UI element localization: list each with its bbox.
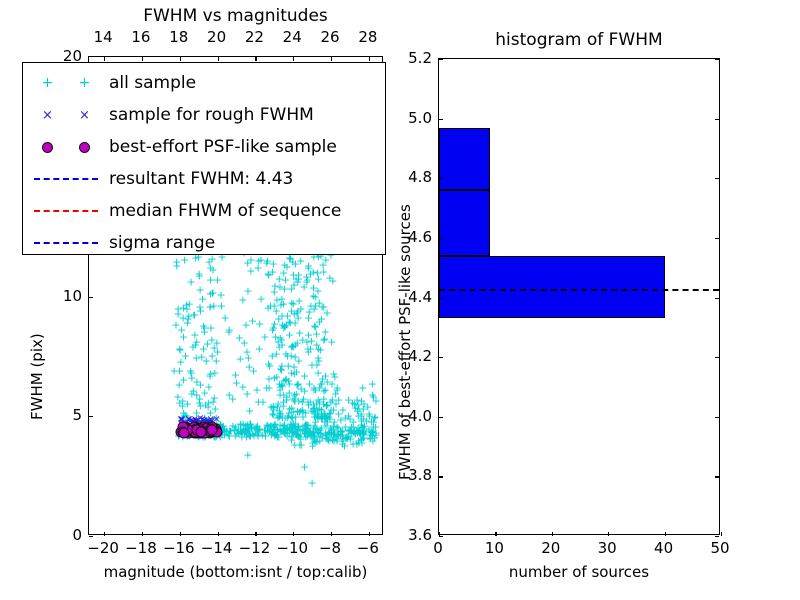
scatter-marker-all-sample: + [311, 321, 320, 332]
scatter-marker-all-sample: + [226, 425, 235, 436]
scatter-marker-all-sample: + [359, 404, 368, 415]
scatter-y-tick: 0 [44, 526, 82, 544]
scatter-marker-psf-like [194, 426, 205, 437]
scatter-marker-psf-like [203, 426, 214, 437]
scatter-marker-all-sample: + [324, 435, 333, 446]
scatter-y-tick: 5 [44, 406, 82, 424]
scatter-marker-all-sample: + [275, 341, 284, 352]
scatter-marker-all-sample: + [294, 422, 303, 433]
scatter-marker-all-sample: + [269, 422, 278, 433]
scatter-marker-all-sample: + [176, 356, 185, 367]
scatter-marker-all-sample: + [175, 427, 184, 438]
scatter-marker-all-sample: + [187, 388, 196, 399]
legend-dot-icon [42, 142, 53, 153]
scatter-marker-all-sample: + [342, 432, 351, 443]
scatter-marker-all-sample: + [184, 421, 193, 432]
scatter-marker-all-sample: + [243, 427, 252, 438]
scatter-marker-all-sample: + [193, 419, 202, 430]
scatter-marker-all-sample: + [368, 436, 377, 447]
scatter-marker-all-sample: + [232, 377, 241, 388]
scatter-marker-all-sample: + [329, 404, 338, 415]
scatter-marker-all-sample: + [330, 417, 339, 428]
scatter-marker-all-sample: + [369, 392, 378, 403]
scatter-marker-psf-like [201, 423, 212, 434]
scatter-marker-all-sample: + [210, 431, 219, 442]
scatter-marker-all-sample: + [281, 274, 290, 285]
scatter-marker-all-sample: + [243, 419, 252, 430]
scatter-marker-all-sample: + [331, 399, 340, 410]
scatter-marker-all-sample: + [302, 276, 311, 287]
scatter-marker-all-sample: + [354, 411, 363, 422]
scatter-marker-all-sample: + [203, 429, 212, 440]
scatter-marker-all-sample: + [291, 259, 300, 270]
scatter-marker-all-sample: + [303, 274, 312, 285]
scatter-marker-all-sample: + [285, 379, 294, 390]
scatter-marker-all-sample: + [302, 424, 311, 435]
scatter-top-tick: 16 [131, 28, 150, 46]
legend-label: resultant FWHM: 4.43 [109, 169, 293, 189]
scatter-marker-all-sample: + [297, 439, 306, 450]
scatter-marker-all-sample: + [228, 394, 237, 405]
scatter-marker-all-sample: + [300, 461, 309, 472]
scatter-marker-psf-like [179, 426, 190, 437]
scatter-marker-all-sample: + [199, 321, 208, 332]
legend-cross-icon: × [42, 108, 53, 123]
scatter-marker-all-sample: + [226, 426, 235, 437]
tick-mark [89, 536, 93, 537]
scatter-marker-all-sample: + [336, 425, 345, 436]
scatter-marker-all-sample: + [286, 419, 295, 430]
scatter-marker-all-sample: + [325, 413, 334, 424]
scatter-marker-psf-like [179, 422, 190, 433]
scatter-marker-all-sample: + [349, 427, 358, 438]
scatter-marker-all-sample: + [321, 413, 330, 424]
scatter-marker-all-sample: + [309, 385, 318, 396]
scatter-marker-all-sample: + [333, 382, 342, 393]
scatter-marker-all-sample: + [368, 390, 377, 401]
scatter-marker-all-sample: + [270, 424, 279, 435]
legend-entry[interactable]: sigma range [23, 227, 385, 259]
scatter-marker-all-sample: + [214, 423, 223, 434]
scatter-marker-all-sample: + [296, 434, 305, 445]
scatter-marker-all-sample: + [284, 423, 293, 434]
scatter-marker-all-sample: + [216, 289, 225, 300]
legend-entry[interactable]: resultant FWHM: 4.43 [23, 163, 385, 195]
scatter-marker-all-sample: + [317, 378, 326, 389]
scatter-marker-all-sample: + [302, 426, 311, 437]
scatter-marker-psf-like [196, 427, 207, 438]
scatter-marker-all-sample: + [358, 427, 367, 438]
scatter-marker-all-sample: + [368, 427, 377, 438]
scatter-marker-all-sample: + [283, 310, 292, 321]
scatter-marker-all-sample: + [276, 363, 285, 374]
scatter-marker-all-sample: + [235, 332, 244, 343]
scatter-marker-all-sample: + [210, 342, 219, 353]
scatter-marker-all-sample: + [347, 421, 356, 432]
tick-mark [439, 119, 443, 120]
scatter-marker-all-sample: + [321, 432, 330, 443]
scatter-marker-rough-fwhm: × [207, 415, 215, 425]
scatter-marker-all-sample: + [293, 380, 302, 391]
scatter-marker-all-sample: + [317, 314, 326, 325]
scatter-marker-all-sample: + [234, 424, 243, 435]
scatter-marker-all-sample: + [350, 427, 359, 438]
scatter-marker-all-sample: + [308, 441, 317, 452]
scatter-top-tick: 18 [169, 28, 188, 46]
scatter-marker-all-sample: + [293, 424, 302, 435]
scatter-marker-psf-like [175, 427, 186, 438]
scatter-marker-all-sample: + [305, 306, 314, 317]
scatter-marker-all-sample: + [195, 431, 204, 442]
scatter-marker-all-sample: + [301, 428, 310, 439]
scatter-marker-all-sample: + [240, 427, 249, 438]
scatter-marker-all-sample: + [205, 302, 214, 313]
scatter-marker-all-sample: + [291, 340, 300, 351]
scatter-marker-all-sample: + [306, 396, 315, 407]
scatter-marker-all-sample: + [190, 310, 199, 321]
scatter-marker-psf-like [197, 424, 208, 435]
scatter-marker-all-sample: + [241, 426, 250, 437]
scatter-marker-all-sample: + [306, 426, 315, 437]
scatter-marker-all-sample: + [212, 430, 221, 441]
scatter-marker-all-sample: + [287, 297, 296, 308]
scatter-marker-psf-like [189, 421, 200, 432]
scatter-marker-all-sample: + [279, 322, 288, 333]
scatter-marker-all-sample: + [209, 430, 218, 441]
scatter-marker-all-sample: + [236, 419, 245, 430]
scatter-marker-all-sample: + [253, 430, 262, 441]
scatter-marker-all-sample: + [358, 426, 367, 437]
scatter-marker-all-sample: + [205, 370, 214, 381]
scatter-bottom-tick: −10 [276, 539, 308, 557]
scatter-marker-rough-fwhm: × [200, 416, 208, 426]
scatter-marker-all-sample: + [316, 378, 325, 389]
legend-key [23, 242, 109, 244]
scatter-marker-all-sample: + [338, 425, 347, 436]
scatter-marker-all-sample: + [314, 367, 323, 378]
scatter-ylabel: FWHM (pix) [28, 333, 46, 420]
scatter-marker-all-sample: + [225, 390, 234, 401]
scatter-marker-all-sample: + [279, 401, 288, 412]
scatter-marker-all-sample: + [289, 407, 298, 418]
scatter-marker-all-sample: + [206, 427, 215, 438]
scatter-marker-all-sample: + [179, 408, 188, 419]
scatter-marker-all-sample: + [290, 351, 299, 362]
scatter-marker-all-sample: + [198, 293, 207, 304]
scatter-marker-all-sample: + [251, 428, 260, 439]
scatter-marker-rough-fwhm: × [196, 418, 204, 428]
scatter-marker-psf-like [178, 427, 189, 438]
scatter-marker-all-sample: + [280, 419, 289, 430]
tick-mark [439, 178, 443, 179]
scatter-marker-all-sample: + [252, 422, 261, 433]
scatter-marker-all-sample: + [196, 380, 205, 391]
scatter-marker-all-sample: + [180, 428, 189, 439]
scatter-marker-all-sample: + [281, 375, 290, 386]
scatter-marker-all-sample: + [187, 372, 196, 383]
legend-label: best-effort PSF-like sample [109, 137, 337, 157]
tick-mark [715, 298, 719, 299]
scatter-marker-rough-fwhm: × [204, 418, 212, 428]
scatter-marker-all-sample: + [262, 419, 271, 430]
scatter-marker-rough-fwhm: × [193, 417, 201, 427]
scatter-marker-all-sample: + [325, 427, 334, 438]
scatter-marker-all-sample: + [302, 337, 311, 348]
scatter-marker-all-sample: + [275, 411, 284, 422]
scatter-marker-psf-like [191, 424, 202, 435]
scatter-marker-all-sample: + [267, 429, 276, 440]
scatter-marker-all-sample: + [231, 421, 240, 432]
scatter-marker-all-sample: + [191, 425, 200, 436]
scatter-marker-all-sample: + [275, 406, 284, 417]
scatter-marker-all-sample: + [289, 428, 298, 439]
scatter-marker-all-sample: + [343, 432, 352, 443]
scatter-marker-all-sample: + [236, 353, 245, 364]
scatter-marker-all-sample: + [213, 420, 222, 431]
scatter-marker-all-sample: + [268, 350, 277, 361]
scatter-marker-all-sample: + [278, 380, 287, 391]
scatter-marker-all-sample: + [294, 420, 303, 431]
scatter-marker-all-sample: + [282, 392, 291, 403]
scatter-marker-psf-like [205, 424, 216, 435]
scatter-marker-psf-like [198, 422, 209, 433]
scatter-marker-all-sample: + [355, 427, 364, 438]
scatter-marker-all-sample: + [329, 430, 338, 441]
scatter-marker-all-sample: + [189, 309, 198, 320]
scatter-marker-all-sample: + [260, 424, 269, 435]
scatter-marker-rough-fwhm: × [184, 415, 192, 425]
scatter-marker-all-sample: + [366, 427, 375, 438]
scatter-marker-all-sample: + [240, 338, 249, 349]
histogram-bars-layer [439, 59, 719, 534]
scatter-marker-psf-like [182, 422, 193, 433]
scatter-marker-psf-like [183, 426, 194, 437]
scatter-marker-all-sample: + [348, 397, 357, 408]
scatter-marker-all-sample: + [228, 420, 237, 431]
scatter-marker-all-sample: + [234, 428, 243, 439]
scatter-marker-all-sample: + [260, 332, 269, 343]
scatter-marker-all-sample: + [204, 398, 213, 409]
legend-entry[interactable]: ××sample for rough FWHM [23, 99, 385, 131]
scatter-marker-all-sample: + [241, 422, 250, 433]
scatter-marker-all-sample: + [368, 431, 377, 442]
scatter-marker-all-sample: + [273, 337, 282, 348]
scatter-marker-all-sample: + [352, 439, 361, 450]
scatter-marker-psf-like [177, 425, 188, 436]
legend-key: ++ [23, 75, 109, 91]
scatter-marker-all-sample: + [300, 428, 309, 439]
legend-key [23, 210, 109, 212]
scatter-marker-all-sample: + [274, 431, 283, 442]
scatter-marker-rough-fwhm: × [203, 416, 211, 426]
scatter-marker-all-sample: + [195, 394, 204, 405]
scatter-marker-all-sample: + [222, 425, 231, 436]
scatter-marker-all-sample: + [185, 428, 194, 439]
histogram-x-tick: 40 [654, 539, 673, 557]
scatter-marker-psf-like [191, 424, 202, 435]
scatter-marker-all-sample: + [206, 425, 215, 436]
legend-entry[interactable]: best-effort PSF-like sample [23, 131, 385, 163]
scatter-marker-psf-like [188, 422, 199, 433]
scatter-marker-all-sample: + [361, 425, 370, 436]
scatter-marker-all-sample: + [367, 425, 376, 436]
scatter-marker-psf-like [201, 426, 212, 437]
scatter-marker-all-sample: + [272, 371, 281, 382]
scatter-marker-psf-like [205, 424, 216, 435]
scatter-y-tick: 10 [44, 287, 82, 305]
scatter-marker-all-sample: + [169, 365, 178, 376]
scatter-marker-all-sample: + [350, 425, 359, 436]
tick-mark [218, 57, 219, 61]
tick-mark [180, 57, 181, 61]
scatter-marker-all-sample: + [293, 276, 302, 287]
scatter-marker-all-sample: + [238, 295, 247, 306]
scatter-marker-all-sample: + [357, 396, 366, 407]
scatter-marker-all-sample: + [265, 383, 274, 394]
scatter-marker-psf-like [210, 424, 221, 435]
legend-entry[interactable]: median FHWM of sequence [23, 195, 385, 227]
scatter-marker-all-sample: + [323, 416, 332, 427]
scatter-marker-all-sample: + [206, 369, 215, 380]
legend-dashed-blue-line [34, 178, 98, 180]
scatter-marker-all-sample: + [330, 428, 339, 439]
scatter-marker-all-sample: + [268, 266, 277, 277]
scatter-marker-all-sample: + [300, 385, 309, 396]
scatter-marker-all-sample: + [179, 303, 188, 314]
scatter-marker-all-sample: + [172, 261, 181, 272]
scatter-marker-all-sample: + [357, 410, 366, 421]
scatter-marker-all-sample: + [287, 420, 296, 431]
scatter-marker-all-sample: + [277, 293, 286, 304]
scatter-marker-all-sample: + [183, 317, 192, 328]
scatter-marker-all-sample: + [269, 403, 278, 414]
scatter-marker-all-sample: + [225, 426, 234, 437]
scatter-marker-all-sample: + [204, 424, 213, 435]
scatter-marker-all-sample: + [275, 411, 284, 422]
scatter-marker-all-sample: + [278, 310, 287, 321]
scatter-marker-all-sample: + [198, 421, 207, 432]
scatter-marker-all-sample: + [273, 402, 282, 413]
scatter-marker-all-sample: + [253, 424, 262, 435]
scatter-marker-all-sample: + [336, 431, 345, 442]
scatter-marker-all-sample: + [177, 425, 186, 436]
histogram-x-tick: 10 [485, 539, 504, 557]
scatter-marker-rough-fwhm: × [194, 416, 202, 426]
scatter-marker-all-sample: + [264, 358, 273, 369]
scatter-marker-all-sample: + [288, 393, 297, 404]
scatter-marker-all-sample: + [272, 295, 281, 306]
scatter-marker-all-sample: + [195, 397, 204, 408]
scatter-marker-all-sample: + [319, 386, 328, 397]
legend-dot-icon [79, 142, 90, 153]
scatter-marker-all-sample: + [324, 411, 333, 422]
scatter-marker-psf-like [200, 424, 211, 435]
scatter-marker-all-sample: + [321, 326, 330, 337]
scatter-marker-all-sample: + [184, 421, 193, 432]
scatter-marker-all-sample: + [338, 429, 347, 440]
scatter-marker-psf-like [177, 422, 188, 433]
scatter-marker-all-sample: + [307, 359, 316, 370]
scatter-marker-all-sample: + [289, 280, 298, 291]
scatter-marker-all-sample: + [355, 424, 364, 435]
scatter-marker-all-sample: + [299, 393, 308, 404]
scatter-marker-all-sample: + [310, 411, 319, 422]
scatter-marker-all-sample: + [263, 421, 272, 432]
scatter-marker-all-sample: + [278, 319, 287, 330]
scatter-marker-all-sample: + [196, 425, 205, 436]
scatter-marker-all-sample: + [333, 429, 342, 440]
scatter-marker-all-sample: + [268, 426, 277, 437]
scatter-marker-all-sample: + [200, 322, 209, 333]
scatter-marker-rough-fwhm: × [192, 416, 200, 426]
scatter-marker-all-sample: + [286, 423, 295, 434]
scatter-marker-all-sample: + [332, 385, 341, 396]
scatter-marker-all-sample: + [353, 395, 362, 406]
scatter-marker-all-sample: + [278, 421, 287, 432]
scatter-marker-all-sample: + [225, 430, 234, 441]
scatter-marker-all-sample: + [218, 426, 227, 437]
scatter-marker-all-sample: + [217, 300, 226, 311]
scatter-marker-all-sample: + [220, 427, 229, 438]
scatter-marker-all-sample: + [182, 299, 191, 310]
tick-mark [715, 238, 719, 239]
scatter-marker-all-sample: + [200, 413, 209, 424]
scatter-marker-all-sample: + [264, 303, 273, 314]
scatter-marker-all-sample: + [207, 425, 216, 436]
scatter-marker-all-sample: + [318, 374, 327, 385]
scatter-bottom-tick: −8 [319, 539, 341, 557]
scatter-marker-all-sample: + [317, 412, 326, 423]
scatter-marker-all-sample: + [370, 411, 379, 422]
scatter-marker-all-sample: + [255, 424, 264, 435]
scatter-marker-all-sample: + [287, 434, 296, 445]
scatter-marker-all-sample: + [181, 429, 190, 440]
legend-entry[interactable]: ++all sample [23, 67, 385, 99]
scatter-marker-all-sample: + [290, 308, 299, 319]
scatter-marker-all-sample: + [299, 281, 308, 292]
scatter-marker-all-sample: + [281, 348, 290, 359]
scatter-marker-all-sample: + [344, 432, 353, 443]
scatter-marker-all-sample: + [284, 408, 293, 419]
scatter-marker-all-sample: + [208, 288, 217, 299]
scatter-marker-all-sample: + [314, 405, 323, 416]
tick-mark [293, 57, 294, 61]
scatter-marker-all-sample: + [276, 381, 285, 392]
histogram-y-tick: 4.8 [398, 168, 432, 186]
scatter-marker-all-sample: + [319, 334, 328, 345]
scatter-marker-all-sample: + [206, 289, 215, 300]
scatter-marker-all-sample: + [275, 419, 284, 430]
scatter-marker-all-sample: + [187, 368, 196, 379]
scatter-marker-all-sample: + [315, 297, 324, 308]
scatter-marker-all-sample: + [336, 427, 345, 438]
scatter-marker-all-sample: + [200, 326, 209, 337]
scatter-marker-all-sample: + [285, 329, 294, 340]
scatter-marker-all-sample: + [192, 407, 201, 418]
scatter-marker-all-sample: + [185, 298, 194, 309]
scatter-marker-all-sample: + [207, 334, 216, 345]
scatter-marker-all-sample: + [272, 430, 281, 441]
scatter-marker-all-sample: + [268, 421, 277, 432]
scatter-marker-all-sample: + [319, 398, 328, 409]
scatter-marker-psf-like [186, 425, 197, 436]
scatter-marker-all-sample: + [175, 366, 184, 377]
tick-mark [715, 476, 719, 477]
tick-mark [142, 57, 143, 61]
scatter-marker-all-sample: + [313, 353, 322, 364]
scatter-marker-all-sample: + [195, 302, 204, 313]
scatter-marker-all-sample: + [249, 365, 258, 376]
